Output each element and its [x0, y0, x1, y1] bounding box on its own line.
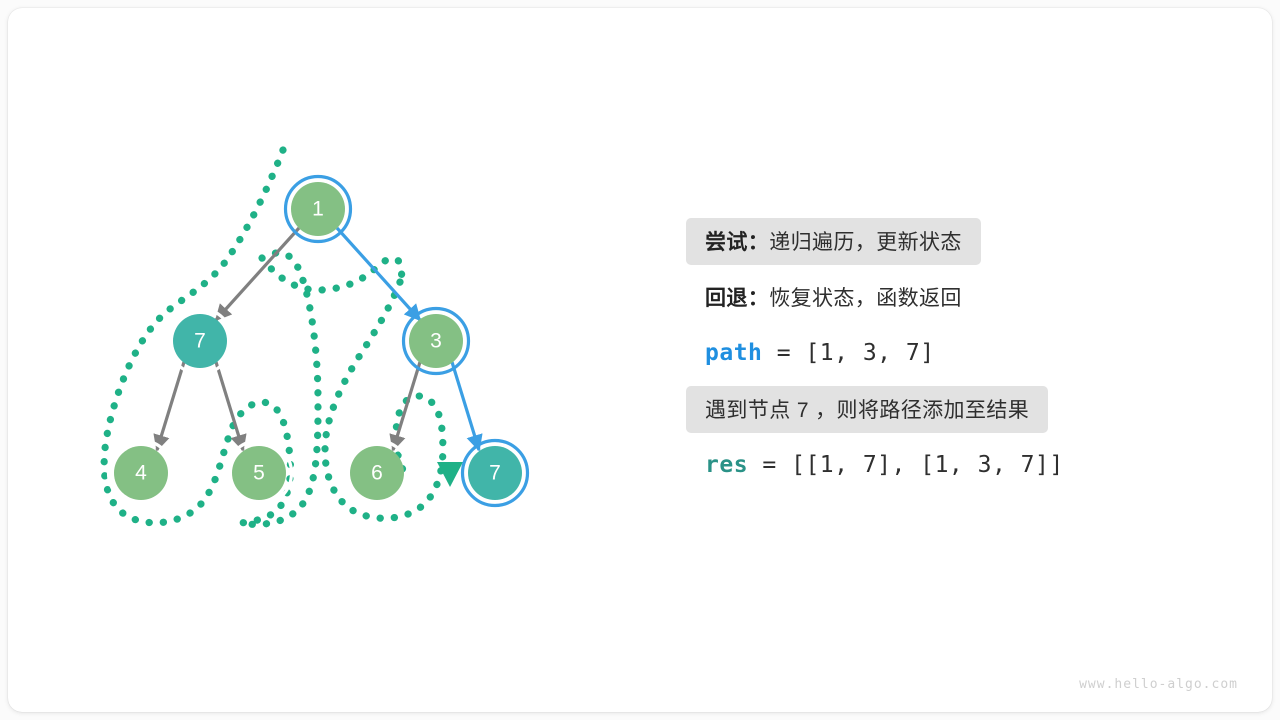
edge-3-6	[393, 362, 420, 450]
node-label: 3	[430, 330, 442, 353]
node-label: 7	[194, 330, 206, 353]
path-value: [1, 3, 7]	[805, 340, 934, 366]
path-variable: path	[705, 340, 762, 366]
path-code: path = [1, 3, 7]	[686, 330, 954, 377]
res-equals: =	[748, 452, 791, 478]
edge-3-7r	[452, 362, 479, 450]
backtrack-text: 恢复状态，函数返回	[769, 282, 962, 312]
res-code: res = [[1, 7], [1, 3, 7]]	[686, 442, 1083, 489]
res-variable: res	[705, 452, 748, 478]
tree-node-7-right[interactable]: 7	[463, 441, 528, 506]
tree-node-3[interactable]: 3	[404, 309, 469, 374]
tree-node-7-left[interactable]: 7	[168, 309, 233, 374]
try-label: 尝试：	[705, 226, 769, 256]
res-value: [[1, 7], [1, 3, 7]]	[791, 452, 1064, 478]
explanation-panel: 尝试：递归遍历，更新状态 回退：恢复状态，函数返回 path = [1, 3, …	[686, 213, 1156, 493]
edge-1-3	[337, 228, 420, 320]
trail-root-arc	[262, 258, 402, 290]
tree-nodes: 1 7 3 4 5	[109, 177, 528, 506]
tree-node-5[interactable]: 5	[227, 441, 292, 506]
trail-arrowhead-icon	[437, 462, 463, 487]
edge-1-7l	[216, 228, 299, 320]
site-watermark: www.hello-algo.com	[1079, 677, 1238, 692]
edge-7l-4	[157, 362, 184, 450]
backtrack-row: 回退：恢复状态，函数返回	[686, 269, 1156, 325]
node-label: 1	[312, 198, 324, 221]
tree-node-4[interactable]: 4	[109, 441, 174, 506]
screenshot-root: 1 7 3 4 5	[0, 0, 1280, 720]
path-row: path = [1, 3, 7]	[686, 325, 1156, 381]
backtrack-label: 回退：	[705, 282, 769, 312]
node-label: 5	[253, 462, 265, 485]
found-row: 遇到节点 7 ，则将路径添加至结果	[686, 381, 1156, 437]
res-row: res = [[1, 7], [1, 3, 7]]	[686, 437, 1156, 493]
node-label: 6	[371, 462, 383, 485]
try-row: 尝试：递归遍历，更新状态	[686, 213, 1156, 269]
try-chip: 尝试：递归遍历，更新状态	[686, 218, 981, 265]
found-chip: 遇到节点 7 ，则将路径添加至结果	[686, 386, 1048, 433]
found-text: 遇到节点 7 ，则将路径添加至结果	[705, 394, 1029, 424]
node-label: 4	[135, 462, 147, 485]
backtrack-text-wrap: 回退：恢复状态，函数返回	[686, 274, 981, 321]
tree-node-6[interactable]: 6	[345, 441, 410, 506]
path-equals: =	[762, 340, 805, 366]
try-text: 递归遍历，更新状态	[769, 226, 962, 256]
node-label: 7	[489, 462, 501, 485]
tree-node-1[interactable]: 1	[286, 177, 351, 242]
